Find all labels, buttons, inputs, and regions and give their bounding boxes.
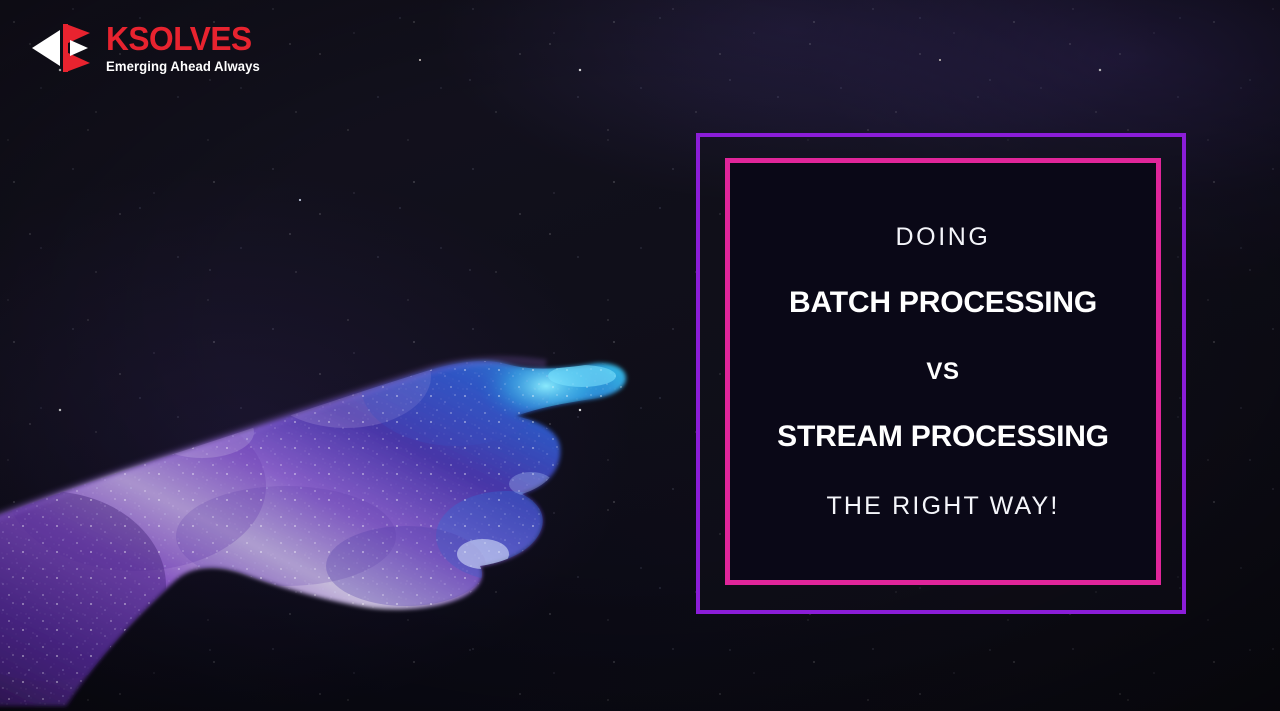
headline-line-batch: BATCH PROCESSING — [789, 286, 1097, 320]
headline-inner-frame: DOING BATCH PROCESSING VS STREAM PROCESS… — [725, 158, 1161, 585]
ksolves-logo[interactable]: KSOLVES Emerging Ahead Always — [30, 22, 265, 74]
logo-wordmark: KSOLVES — [106, 22, 258, 55]
headline-line-stream: STREAM PROCESSING — [777, 420, 1109, 454]
banner-canvas: KSOLVES Emerging Ahead Always DOING BATC… — [0, 0, 1280, 711]
logo-tagline: Emerging Ahead Always — [106, 60, 260, 74]
headline-line-doing: DOING — [896, 223, 991, 252]
galaxy-hand-pointing-icon — [0, 236, 646, 711]
ksolves-triangles-icon — [30, 22, 92, 74]
logo-text-group: KSOLVES Emerging Ahead Always — [106, 22, 265, 74]
headline-line-right-way: THE RIGHT WAY! — [826, 492, 1059, 521]
headline-text-block: DOING BATCH PROCESSING VS STREAM PROCESS… — [730, 223, 1156, 521]
headline-outer-frame: DOING BATCH PROCESSING VS STREAM PROCESS… — [696, 133, 1186, 614]
headline-line-vs: VS — [926, 358, 959, 386]
